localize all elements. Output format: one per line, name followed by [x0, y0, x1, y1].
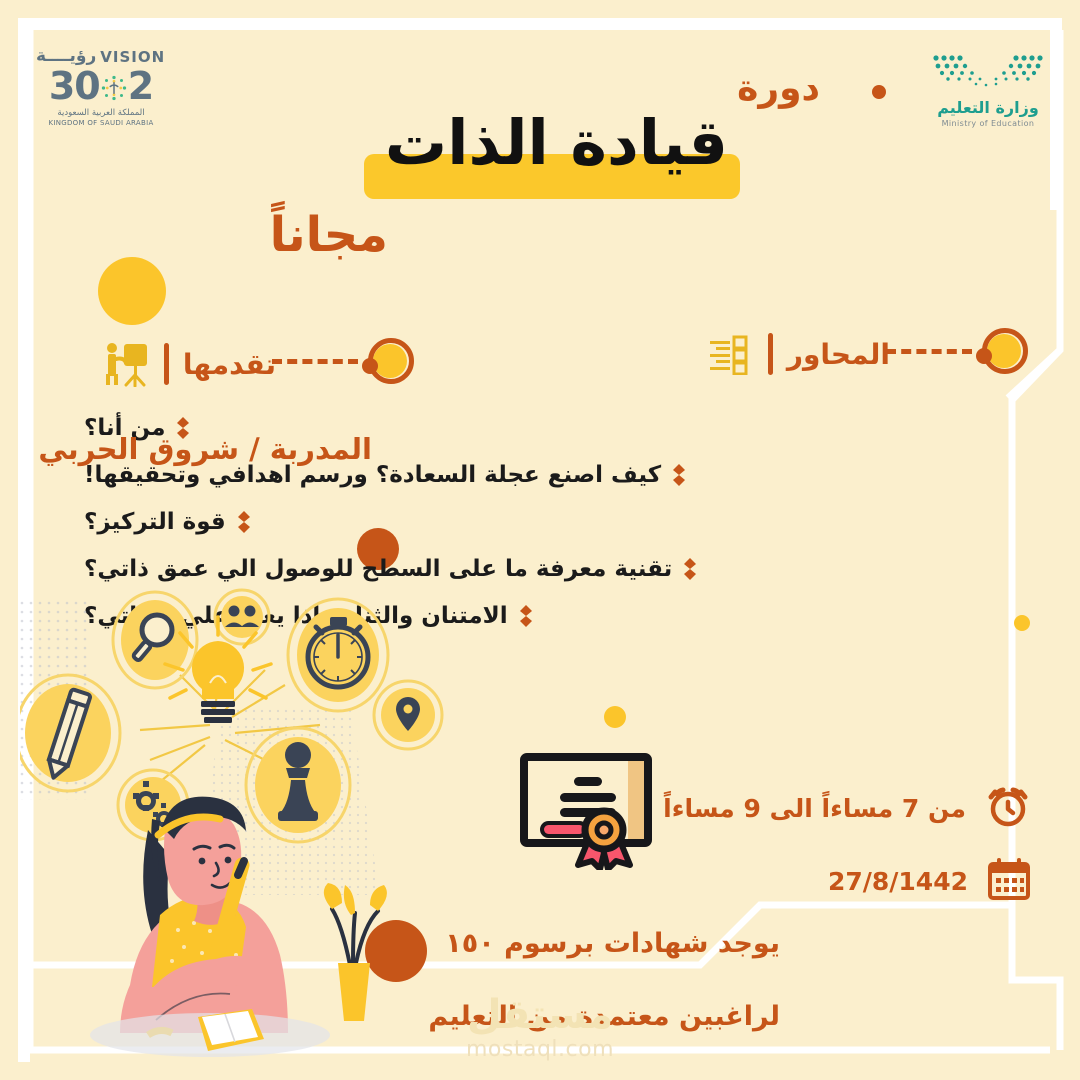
kicker-dot-icon	[872, 85, 886, 99]
diamond-bullet-icon	[237, 511, 251, 533]
vision-word-en: VISION	[100, 50, 165, 65]
course-kicker: دورة	[737, 68, 820, 109]
decor-circle-yellow-small	[604, 706, 626, 728]
stopwatch-bubble	[288, 599, 388, 711]
decor-circle-yellow-large	[98, 257, 166, 325]
alarm-clock-icon	[984, 782, 1032, 834]
topics-section-header: المحاور	[708, 326, 1030, 382]
people-bubble	[215, 590, 269, 644]
section-dash-line	[886, 349, 972, 354]
title-text: قيادة الذات	[385, 112, 728, 174]
watermark: مستقل mostaql.com	[0, 995, 1080, 1062]
moe-dots-icon	[928, 52, 1048, 92]
section-pin-icon	[360, 336, 416, 392]
schedule-time-text: من 7 مساءاً الى 9 مساءاً	[663, 794, 966, 823]
watermark-ar: مستقل	[0, 995, 1080, 1035]
free-badge: مجاناً	[270, 207, 388, 263]
moe-name-ar: وزارة التعليم	[924, 100, 1052, 116]
pin-bubble	[374, 681, 442, 749]
topic-item: قوة التركيز؟	[84, 509, 1024, 535]
schedule-time-row: من 7 مساءاً الى 9 مساءاً	[663, 782, 1032, 834]
section-pin-icon	[974, 326, 1030, 382]
moe-name-en: Ministry of Education	[924, 119, 1052, 128]
schedule-date-row: 27/8/1442	[828, 856, 1032, 906]
diamond-bullet-icon	[672, 464, 686, 486]
presenter-name: المدربة / شروق الحربي	[38, 432, 372, 466]
certificate-icon	[516, 745, 656, 874]
section-divider-bar	[768, 333, 773, 375]
vision-year-left: 2	[128, 67, 153, 105]
presenter-heading: تقدمها	[183, 348, 276, 381]
topic-text: قوة التركيز؟	[84, 509, 226, 535]
topics-heading: المحاور	[787, 338, 890, 371]
list-icon	[708, 333, 754, 375]
watermark-en: mostaql.com	[0, 1037, 1080, 1062]
presenter-board-icon	[102, 341, 150, 387]
thinking-woman-illustration	[20, 565, 450, 1065]
diamond-bullet-icon	[519, 605, 533, 627]
chess-bubble	[246, 728, 350, 842]
vision-palm-emblem-icon	[99, 71, 129, 101]
vision-sub-ar: المملكة العربية السعودية	[36, 108, 166, 119]
vision-word-ar: رؤيــــة	[36, 48, 96, 65]
section-dash-line	[272, 359, 358, 364]
vision-year-right: 30	[49, 67, 100, 105]
diamond-bullet-icon	[683, 558, 697, 580]
certificate-line-1: يوجد شهادات برسوم ١٥٠	[428, 926, 780, 962]
vision-2030-logo: VISION رؤيــــة 2	[36, 48, 166, 129]
calendar-icon	[986, 856, 1032, 906]
ministry-of-education-logo: وزارة التعليم Ministry of Education	[924, 52, 1052, 128]
schedule-date-text: 27/8/1442	[828, 867, 968, 896]
presenter-section-header: تقدمها	[102, 336, 416, 392]
page-title: قيادة الذات	[385, 112, 728, 174]
section-divider-bar	[164, 343, 169, 385]
vision-sub-en: KINGDOM OF SAUDI ARABIA	[36, 119, 166, 128]
poster-canvas: VISION رؤيــــة 2	[0, 0, 1080, 1080]
stopwatch-icon	[308, 617, 368, 687]
